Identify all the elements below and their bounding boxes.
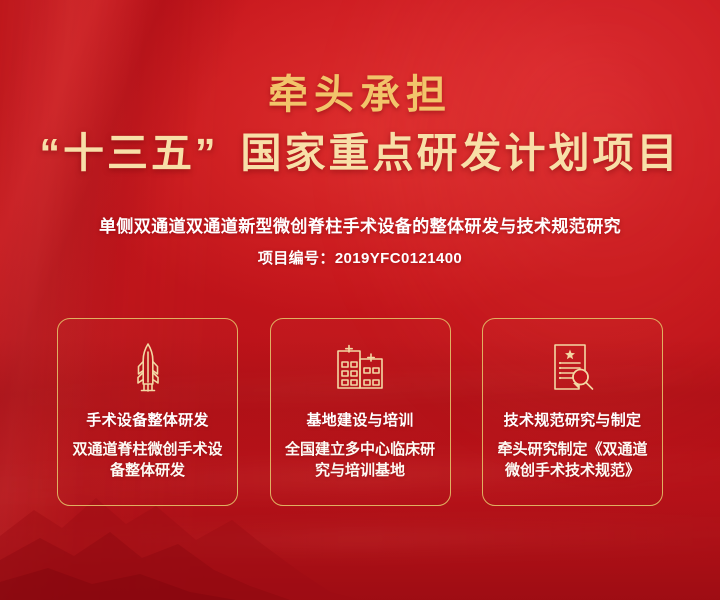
poster-header: 牵头承担 “十三五”国家重点研发计划项目 — [0, 72, 720, 178]
project-description: 单侧双通道双通道新型微创脊柱手术设备的整体研发与技术规范研究 — [0, 212, 720, 237]
feature-card[interactable]: 基地建设与培训 全国建立多中心临床研究与培训基地 — [270, 318, 451, 506]
title-secondary-line: “十三五”国家重点研发计划项目 — [0, 129, 720, 178]
title-rest: 国家重点研发计划项目 — [241, 130, 681, 176]
feature-card-desc: 牵头研究制定《双通道微创手术技术规范》 — [493, 439, 653, 482]
feature-card-title: 手术设备整体研发 — [86, 409, 208, 430]
feature-card-title: 基地建设与培训 — [306, 409, 413, 430]
poster-root: 牵头承担 “十三五”国家重点研发计划项目 单侧双通道双通道新型微创脊柱手术设备的… — [0, 0, 720, 600]
quote-close: ” — [195, 130, 219, 176]
feature-card-title: 技术规范研究与制定 — [504, 409, 642, 430]
feature-card-list: 手术设备整体研发 双通道脊柱微创手术设备整体研发 — [57, 318, 663, 506]
title-main: 牵头承担 — [0, 72, 720, 119]
hospital-icon — [334, 341, 386, 393]
feature-card[interactable]: 技术规范研究与制定 牵头研究制定《双通道微创手术技术规范》 — [482, 318, 663, 506]
feature-card[interactable]: 手术设备整体研发 双通道脊柱微创手术设备整体研发 — [57, 318, 238, 506]
rocket-icon — [122, 341, 174, 393]
project-number: 项目编号：2019YFC0121400 — [0, 247, 720, 268]
five-year-plan-label: 十三五 — [63, 130, 195, 176]
document-search-icon — [547, 341, 599, 393]
feature-card-desc: 全国建立多中心临床研究与培训基地 — [280, 439, 440, 482]
feature-card-desc: 双通道脊柱微创手术设备整体研发 — [68, 439, 228, 482]
quote-open: “ — [40, 130, 64, 176]
